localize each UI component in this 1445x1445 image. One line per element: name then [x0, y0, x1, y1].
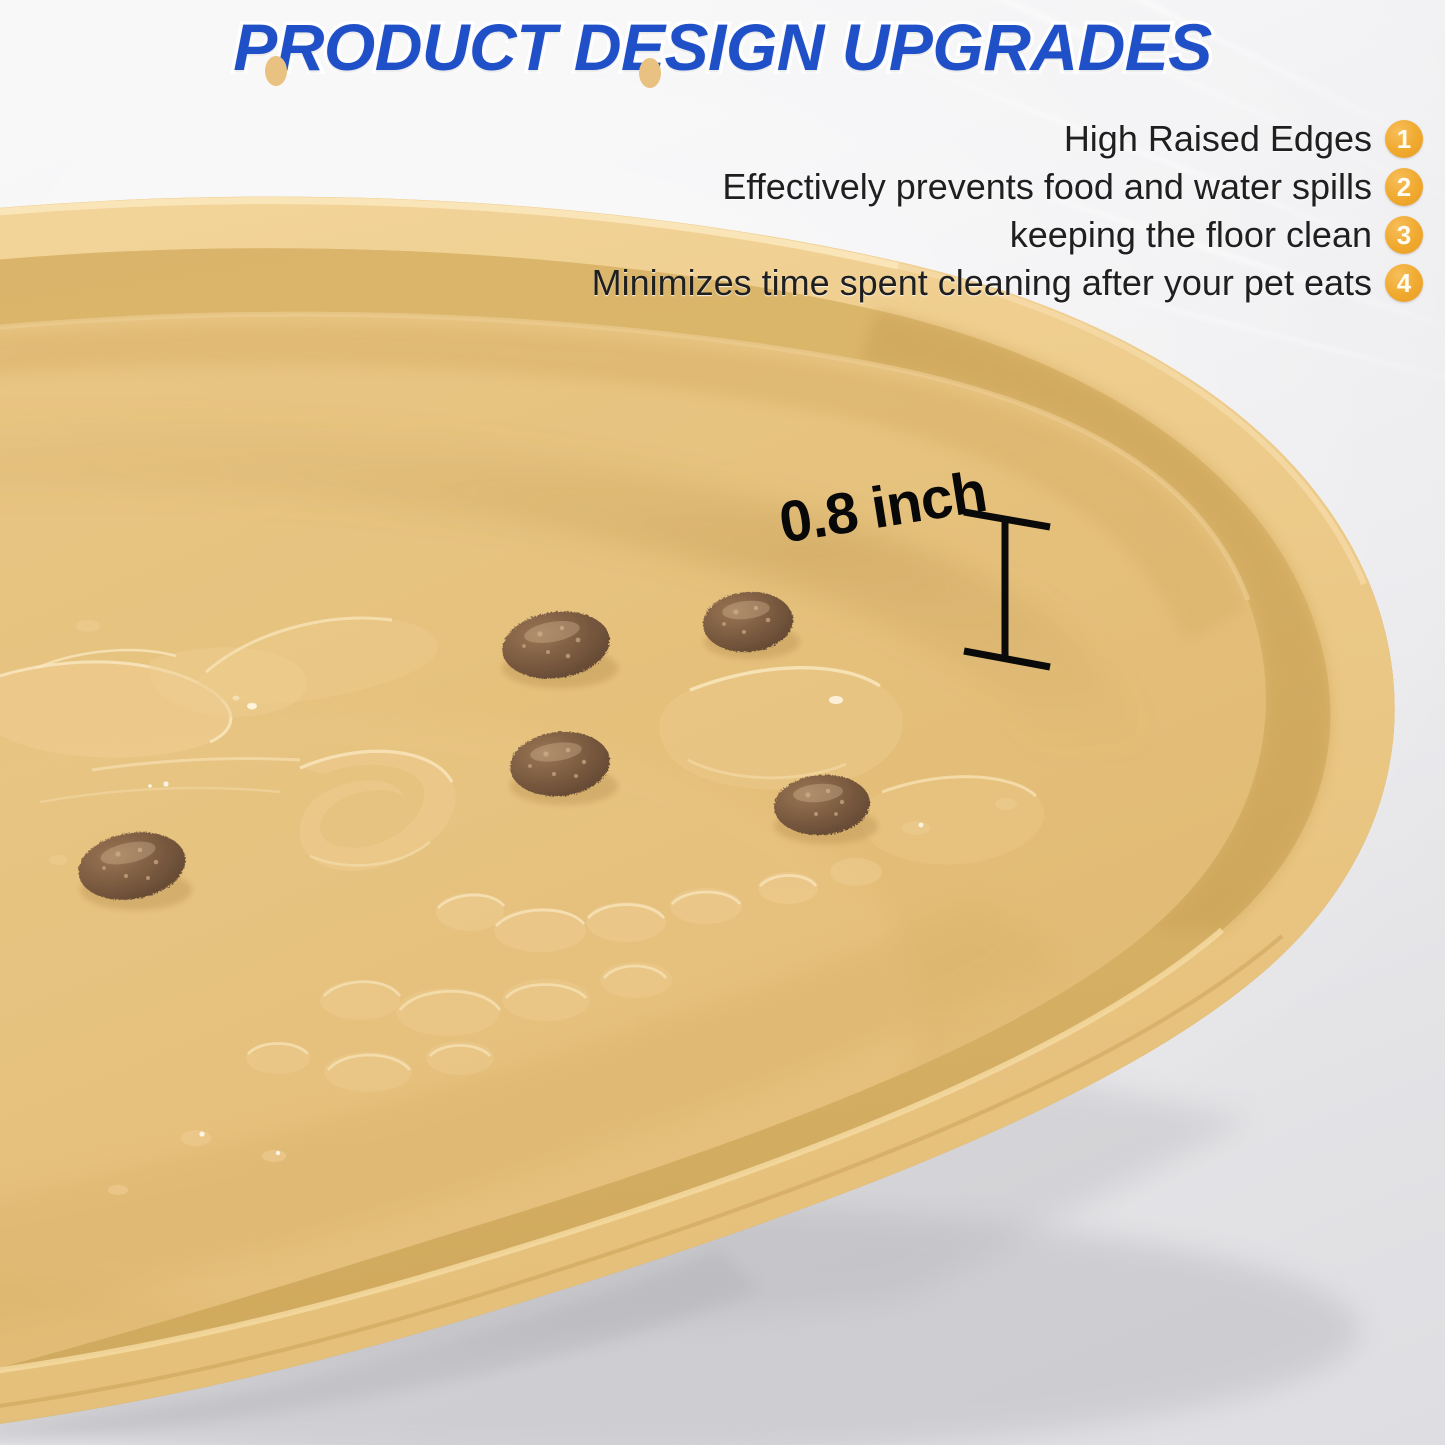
feature-item-3: keeping the floor clean 3 — [1010, 214, 1423, 256]
feature-label: Minimizes time spent cleaning after your… — [592, 262, 1372, 304]
page-title: PRODUCT DESIGN UPGRADES — [0, 14, 1445, 80]
product-infographic: PRODUCT DESIGN UPGRADES High Raised Edge… — [0, 0, 1445, 1445]
page-title-text: PRODUCT DESIGN UPGRADES — [233, 10, 1212, 84]
feature-number-badge: 3 — [1385, 216, 1423, 254]
feature-item-2: Effectively prevents food and water spil… — [722, 166, 1423, 208]
feature-number-badge: 2 — [1385, 168, 1423, 206]
feature-item-4: Minimizes time spent cleaning after your… — [592, 262, 1423, 304]
feature-item-1: High Raised Edges 1 — [1064, 118, 1423, 160]
feature-label: keeping the floor clean — [1010, 214, 1372, 256]
feature-label: High Raised Edges — [1064, 118, 1372, 160]
feature-label: Effectively prevents food and water spil… — [722, 166, 1372, 208]
feature-list: High Raised Edges 1 Effectively prevents… — [592, 118, 1423, 304]
dimension-ibeam-icon — [950, 495, 1080, 685]
feature-number-badge: 1 — [1385, 120, 1423, 158]
feature-number-badge: 4 — [1385, 264, 1423, 302]
